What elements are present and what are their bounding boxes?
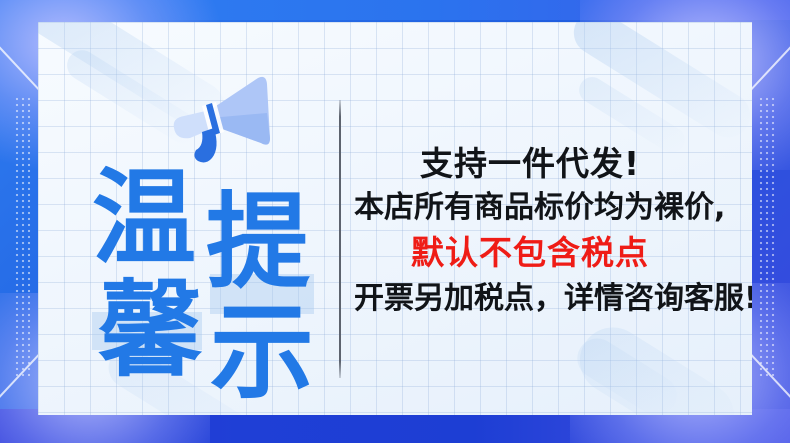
decor-streak [566,22,752,146]
decor-streak [570,331,684,415]
decor-streak [567,315,746,415]
megaphone-icon [162,66,282,166]
headline-char-2: 提 [206,190,310,294]
message-line-3-highlight: 默认不包含税点 [354,230,706,276]
promo-banner: 温 提 馨 示 支持一件代发! 本店所有商品标价均为裸价, 默认不包含税点 开票… [0,0,790,443]
dot-texture-right [758,96,776,377]
headline-char-4: 示 [210,300,314,404]
dot-texture-left [14,96,32,377]
headline-char-1: 温 [92,166,196,270]
grid-card: 温 提 馨 示 支持一件代发! 本店所有商品标价均为裸价, 默认不包含税点 开票… [38,22,752,415]
frame-top-band [0,0,790,20]
vertical-divider [339,100,341,378]
message-line-1: 支持一件代发! [354,142,706,186]
right-panel: 支持一件代发! 本店所有商品标价均为裸价, 默认不包含税点 开票另加税点，详情咨… [354,142,706,322]
headline-char-3: 馨 [98,278,202,382]
headline-char-grid: 温 提 馨 示 [92,166,320,406]
message-line-2: 本店所有商品标价均为裸价, [354,186,706,230]
left-panel: 温 提 馨 示 [84,58,320,414]
message-line-4: 开票另加税点，详情咨询客服! [354,276,706,322]
